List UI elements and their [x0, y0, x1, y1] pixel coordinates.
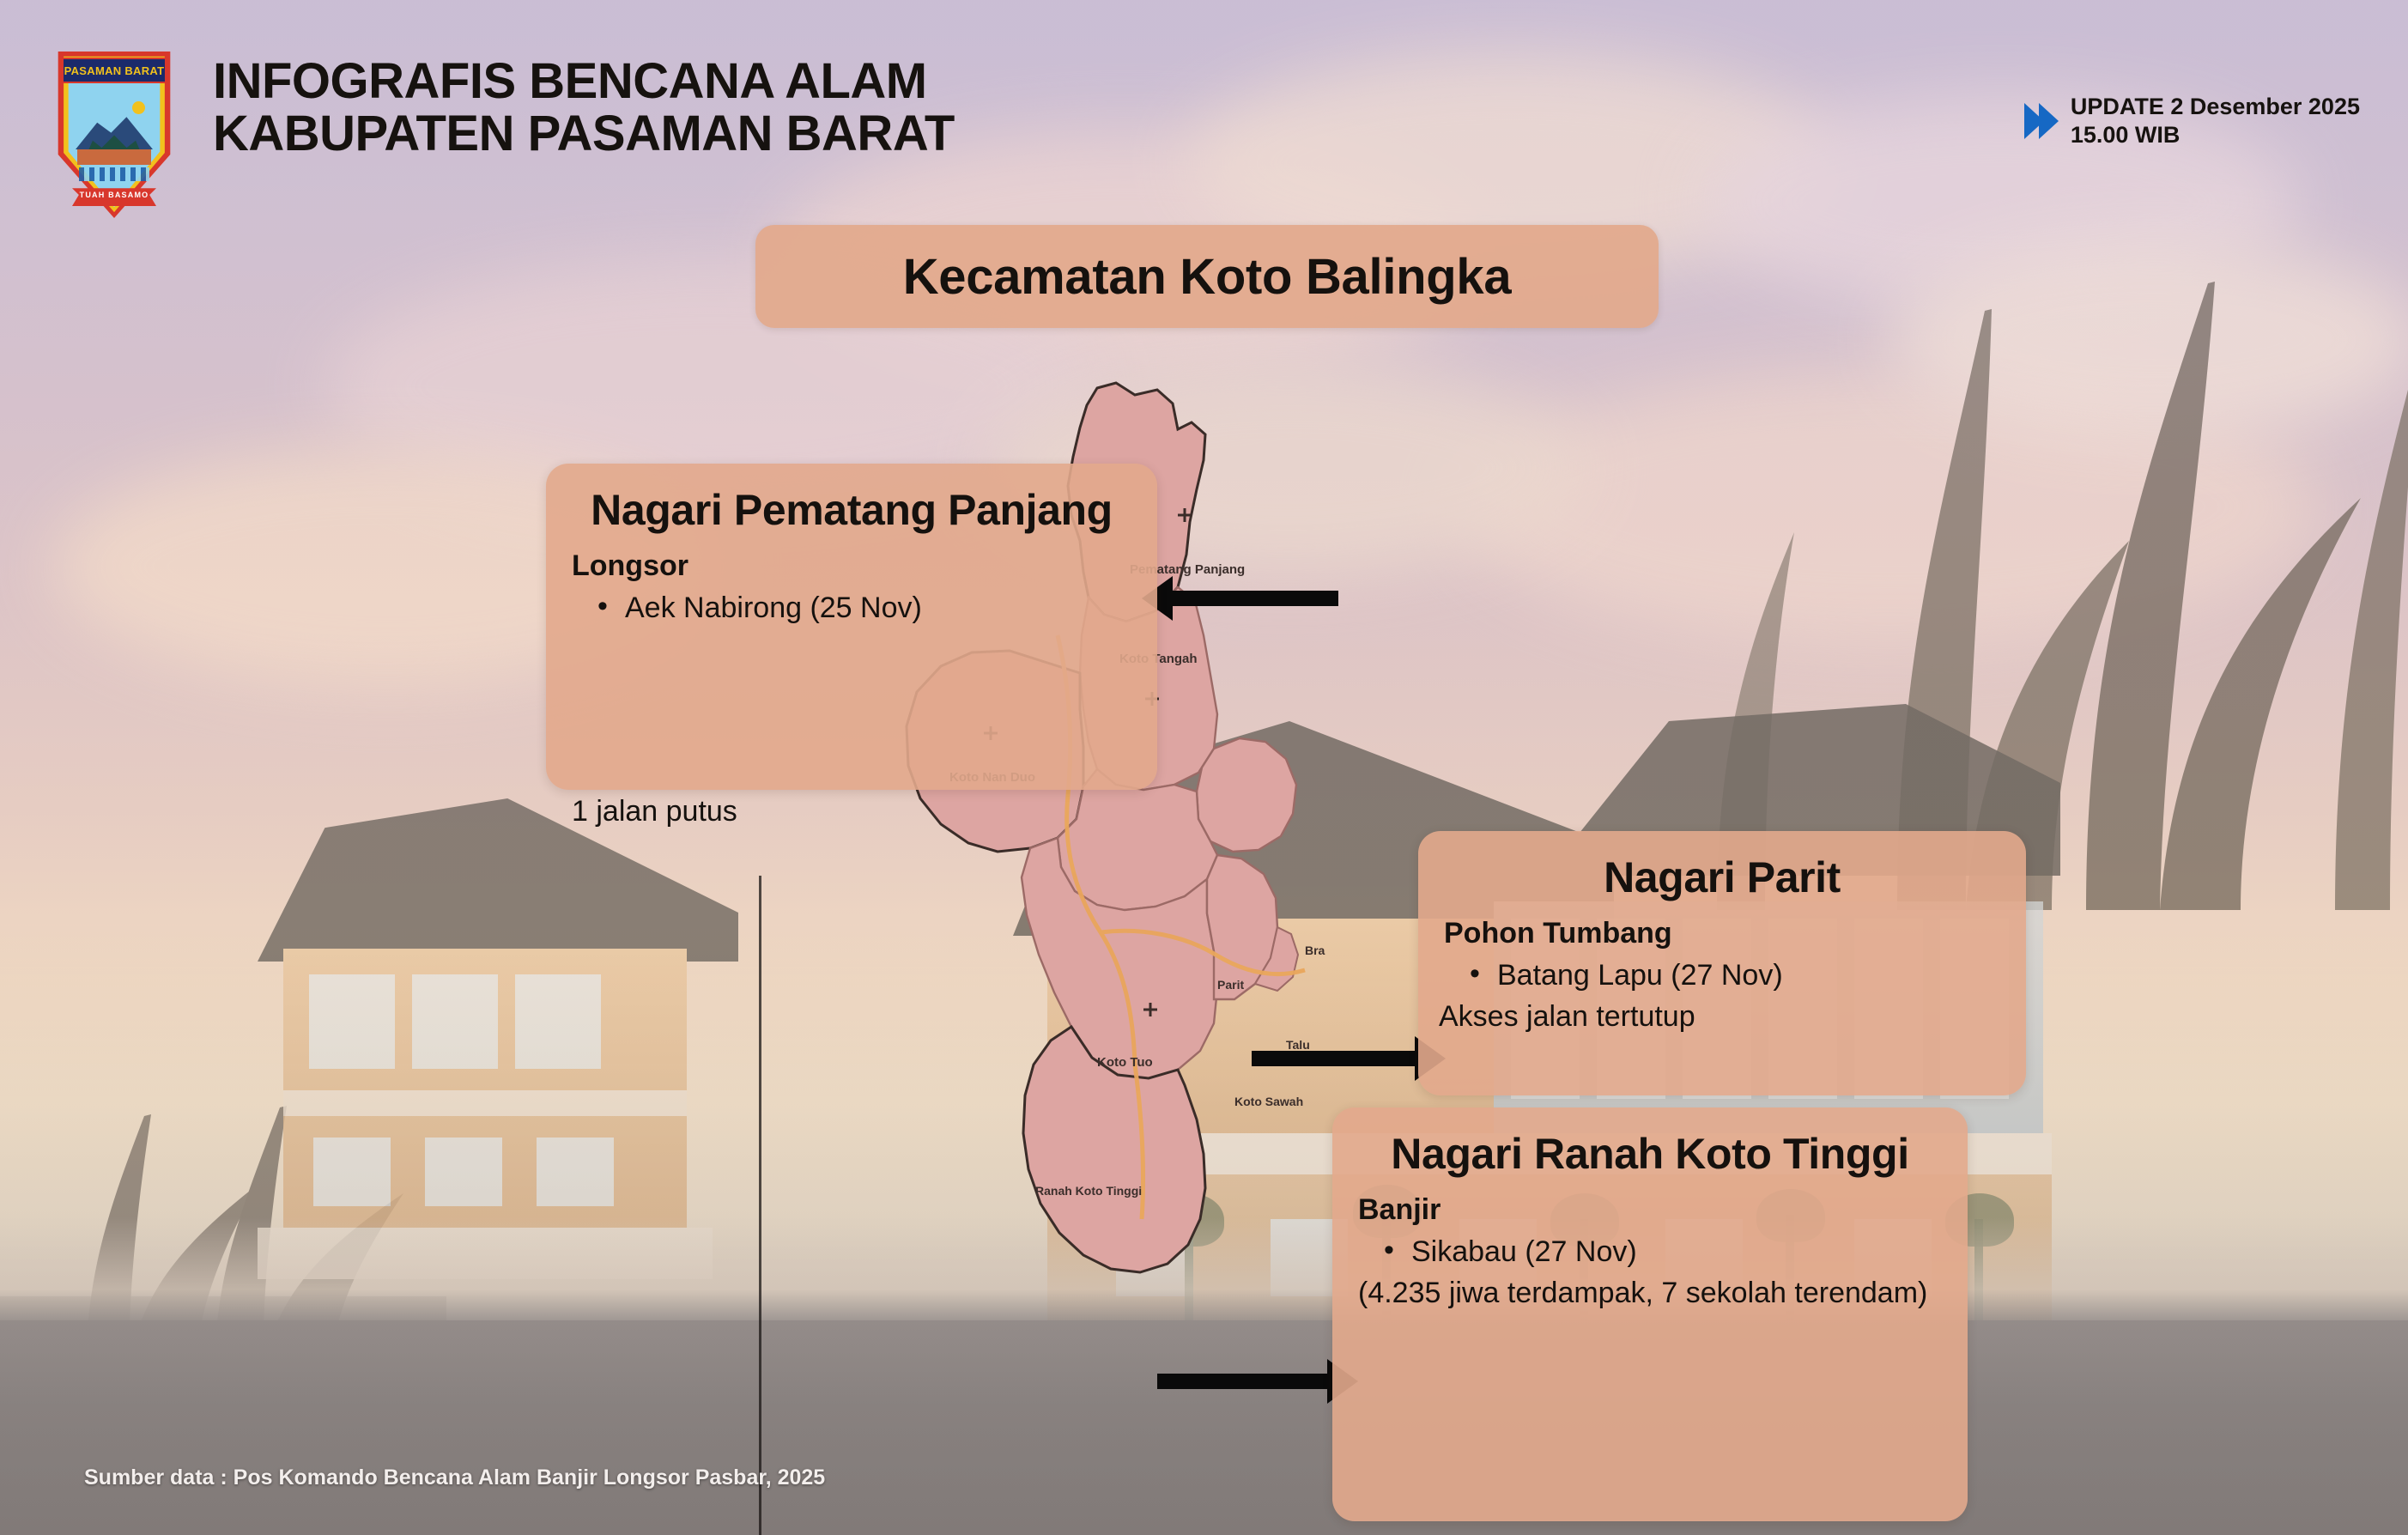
map-label-ranah-koto-tinggi: Ranah Koto Tinggi	[1035, 1184, 1142, 1198]
card-disaster-type: Pohon Tumbang	[1444, 916, 2000, 951]
sun-icon	[132, 101, 145, 114]
infographic-canvas: PASAMAN BARAT TUAH BASAMO INFOGRAFIS BEN…	[0, 0, 2408, 1535]
card-note: (4.235 jiwa terdampak, 7 sekolah terenda…	[1358, 1274, 1942, 1314]
map-label-bra: Bra	[1305, 943, 1325, 957]
crest-ribbon-text: TUAH BASAMO	[80, 191, 149, 199]
card-nagari-pematang-panjang[interactable]: Nagari Pematang Panjang Longsor Aek Nabi…	[546, 464, 1157, 790]
arrow-to-parit-card	[1252, 1051, 1416, 1066]
header: PASAMAN BARAT TUAH BASAMO INFOGRAFIS BEN…	[0, 0, 2408, 206]
update-text: UPDATE 2 Desember 2025 15.00 WIB	[2071, 93, 2360, 149]
section-title-pill: Kecamatan Koto Balingka	[755, 225, 1659, 328]
card-note: Akses jalan tertutup	[1439, 998, 2000, 1037]
arrow-to-pematang-card	[1171, 591, 1338, 606]
arrow-to-ranah-card	[1157, 1374, 1329, 1389]
card-disaster-type: Longsor	[572, 549, 1131, 584]
list-item: Batang Lapu (27 Nov)	[1444, 956, 2000, 994]
card-disaster-type: Banjir	[1358, 1192, 1942, 1228]
double-chevron-icon	[2029, 103, 2059, 139]
list-item: Aek Nabirong (25 Nov)	[572, 589, 1131, 627]
page-title: INFOGRAFIS BENCANA ALAM KABUPATEN PASAMA…	[213, 55, 955, 161]
title-line-2: KABUPATEN PASAMAN BARAT	[213, 107, 955, 160]
card-title: Nagari Ranah Koto Tinggi	[1358, 1130, 1942, 1179]
section-title-text: Kecamatan Koto Balingka	[903, 248, 1512, 306]
buildings-row-icon	[77, 149, 151, 165]
map-label-koto-tuo: Koto Tuo	[1097, 1055, 1153, 1070]
card-nagari-parit[interactable]: Nagari Parit Pohon Tumbang Batang Lapu (…	[1418, 831, 2026, 1095]
crest-banner-text: PASAMAN BARAT	[64, 64, 165, 77]
update-date: UPDATE 2 Desember 2025	[2071, 93, 2360, 121]
card-title: Nagari Parit	[1444, 853, 2000, 902]
list-item: Sikabau (27 Nov)	[1358, 1233, 1942, 1271]
card-nagari-ranah-koto-tinggi[interactable]: Nagari Ranah Koto Tinggi Banjir Sikabau …	[1332, 1107, 1968, 1521]
card-item-list: Sikabau (27 Nov)	[1358, 1233, 1942, 1271]
crest-banner: PASAMAN BARAT	[62, 58, 167, 83]
update-stamp: UPDATE 2 Desember 2025 15.00 WIB	[2029, 93, 2360, 149]
water-waves-icon	[79, 167, 149, 181]
vertical-artifact-line	[759, 876, 761, 1535]
pasaman-barat-crest-logo: PASAMAN BARAT TUAH BASAMO	[53, 48, 175, 220]
map-label-koto-sawah: Koto Sawah	[1234, 1095, 1303, 1108]
title-line-1: INFOGRAFIS BENCANA ALAM	[213, 55, 955, 107]
map-label-parit: Parit	[1217, 978, 1244, 992]
source-footer: Sumber data : Pos Komando Bencana Alam B…	[84, 1465, 825, 1490]
card-item-list: Aek Nabirong (25 Nov)	[572, 589, 1131, 627]
card-item-list: Batang Lapu (27 Nov)	[1444, 956, 2000, 994]
card-note: 1 jalan putus	[572, 795, 737, 828]
update-time: 15.00 WIB	[2071, 121, 2360, 149]
map-label-talu: Talu	[1286, 1038, 1310, 1052]
card-title: Nagari Pematang Panjang	[572, 486, 1131, 535]
